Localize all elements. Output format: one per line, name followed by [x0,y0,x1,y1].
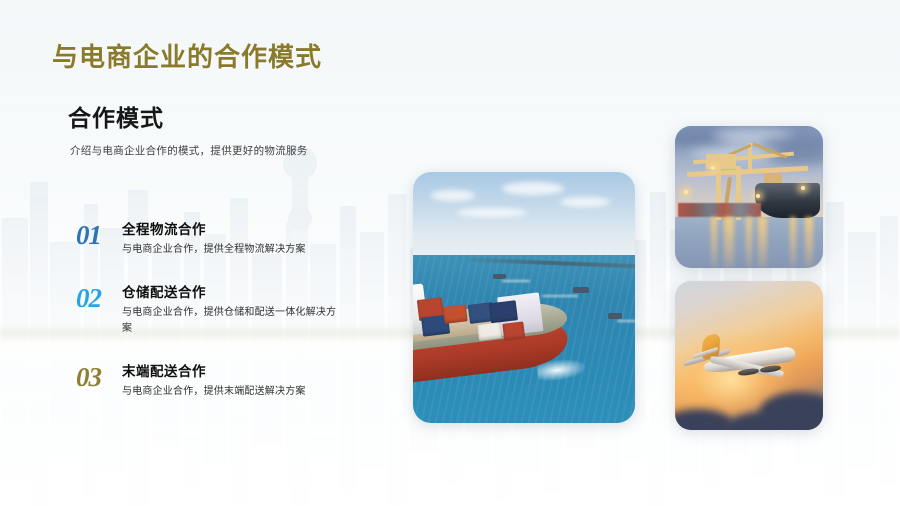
section-heading: 合作模式 [68,99,164,133]
list-item-number: 02 [76,285,101,312]
container [503,322,526,341]
container-ship [413,254,579,392]
list-item-description: 与电商企业合作，提供末端配送解决方案 [122,384,344,400]
tugboat [573,287,589,293]
list-item-number: 03 [76,364,101,391]
docked-vessel [755,183,820,219]
tugboat [608,313,622,319]
list-item-description: 与电商企业合作，提供全程物流解决方案 [122,242,344,258]
page-title: 与电商企业的合作模式 [52,37,322,74]
dock-light [711,166,715,170]
photo-airplane[interactable] [675,281,823,430]
cooperation-model-list: 01 全程物流合作 与电商企业合作，提供全程物流解决方案 02 仓储配送合作 与… [76,222,376,428]
list-item-number: 01 [76,222,101,249]
airplane [690,332,811,392]
dock-light [684,190,688,194]
list-item[interactable]: 01 全程物流合作 与电商企业合作，提供全程物流解决方案 [76,222,376,257]
list-item-description: 与电商企业合作，提供仓储和配送一体化解决方案 [122,305,344,336]
list-item-title: 仓储配送合作 [122,285,376,302]
cloud [760,392,823,430]
water-reflection [758,217,767,268]
water-reflection [790,217,796,268]
water-reflection [805,217,813,268]
water-reflection [724,217,734,268]
list-item[interactable]: 02 仓储配送合作 与电商企业合作，提供仓储和配送一体化解决方案 [76,285,376,336]
boat-wake [617,320,635,322]
section-subtitle: 介绍与电商企业合作的模式，提供更好的物流服务 [70,143,308,158]
list-item-title: 全程物流合作 [122,222,376,239]
container [478,322,503,341]
dock-light [801,186,805,190]
container [443,304,468,324]
container [489,301,518,324]
slide-root: 与电商企业的合作模式 合作模式 介绍与电商企业合作的模式，提供更好的物流服务 0… [0,0,900,506]
photo-port-crane[interactable] [675,126,823,268]
photo-container-ship[interactable] [413,172,635,423]
sky-layer [413,172,635,255]
water-reflection [746,217,752,268]
water-reflection [711,217,717,268]
dock-containers [678,203,761,217]
list-item[interactable]: 03 末端配送合作 与电商企业合作，提供末端配送解决方案 [76,364,376,399]
list-item-title: 末端配送合作 [122,364,376,381]
